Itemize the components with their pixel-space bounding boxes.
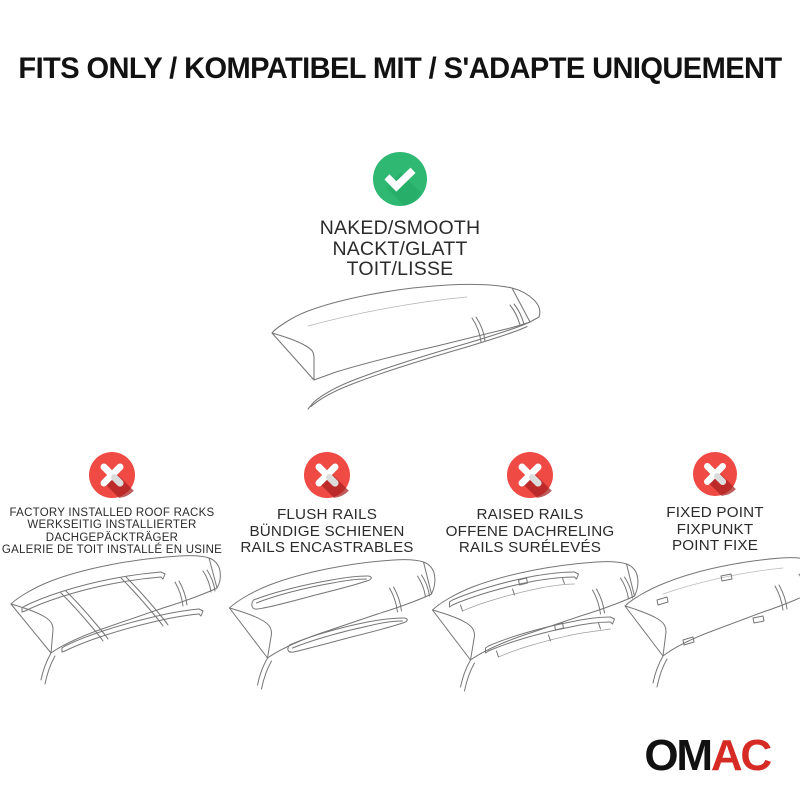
page-title: FITS ONLY / KOMPATIBEL MIT / S'ADAPTE UN… <box>6 52 794 86</box>
label-line-2: OFFENE DACHRELING <box>430 524 630 541</box>
x-circle-icon <box>507 452 553 498</box>
car-roof-fixed-point-illustration <box>617 548 800 693</box>
label-line-1: FIXED POINT <box>630 505 800 522</box>
compatible-label-de: NACKT/GLATT <box>0 239 800 260</box>
car-roof-flush-rails-illustration <box>220 552 435 697</box>
incompatible-labels-raised-rails: RAISED RAILS OFFENE DACHRELING RAILS SUR… <box>430 507 630 557</box>
check-circle-icon <box>373 152 427 206</box>
incompatible-item-fixed-point: FIXED POINT FIXPUNKT POINT FIXE <box>630 452 800 555</box>
label-line-1: FLUSH RAILS <box>224 507 430 524</box>
label-line-1: RAISED RAILS <box>430 507 630 524</box>
label-line-3: DACHGEPÄCKTRÄGER <box>0 532 224 544</box>
incompatible-item-raised-rails: RAISED RAILS OFFENE DACHRELING RAILS SUR… <box>430 452 630 557</box>
logo-text-om: OM <box>644 734 710 778</box>
label-line-2: WERKSEITIG INSTALLIERTER <box>0 519 224 531</box>
label-line-2: FIXPUNKT <box>630 522 800 539</box>
compatible-label-en: NAKED/SMOOTH <box>0 218 800 239</box>
label-line-1: FACTORY INSTALLED ROOF RACKS <box>0 507 224 519</box>
car-roof-factory-rack-illustration <box>3 548 221 693</box>
incompatible-row: FACTORY INSTALLED ROOF RACKS WERKSEITIG … <box>0 452 800 702</box>
x-circle-icon <box>693 452 737 496</box>
incompatible-item-factory-rack: FACTORY INSTALLED ROOF RACKS WERKSEITIG … <box>0 452 224 557</box>
omac-logo: OMAC <box>644 734 770 778</box>
x-circle-icon <box>304 452 350 498</box>
logo-text-ac: AC <box>711 734 770 778</box>
incompatible-labels-flush-rails: FLUSH RAILS BÜNDIGE SCHIENEN RAILS ENCAS… <box>224 507 430 557</box>
compatible-section: NAKED/SMOOTH NACKT/GLATT TOIT/LISSE <box>0 152 800 280</box>
car-roof-naked-smooth-illustration <box>262 278 562 413</box>
incompatible-item-flush-rails: FLUSH RAILS BÜNDIGE SCHIENEN RAILS ENCAS… <box>224 452 430 557</box>
car-roof-raised-rails-illustration <box>423 552 638 697</box>
x-circle-icon <box>89 452 135 498</box>
compatible-labels: NAKED/SMOOTH NACKT/GLATT TOIT/LISSE <box>0 218 800 280</box>
compatible-label-fr: TOIT/LISSE <box>0 259 800 280</box>
label-line-2: BÜNDIGE SCHIENEN <box>224 524 430 541</box>
